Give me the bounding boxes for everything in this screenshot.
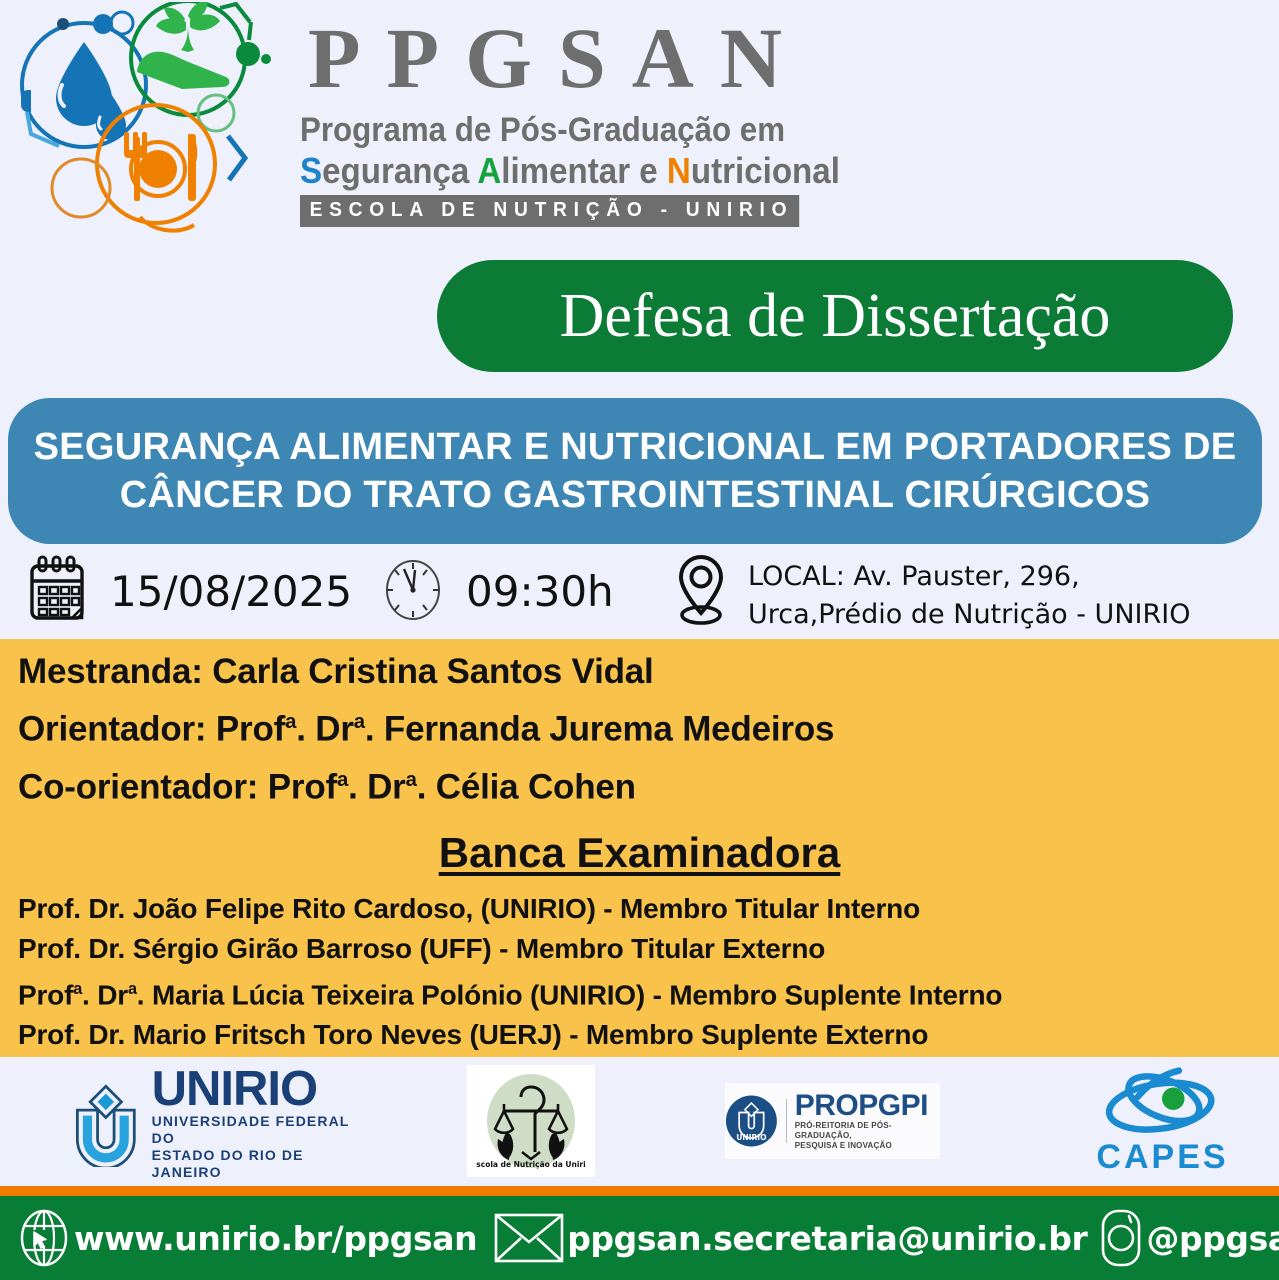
coadvisor-prof-sup: a bbox=[337, 769, 348, 791]
propgpi-badge-icon: UNIRIO bbox=[725, 1093, 778, 1149]
clock-icon bbox=[382, 554, 444, 629]
capes-mark-icon bbox=[1088, 1065, 1238, 1138]
board-member-dr: . Dr bbox=[82, 979, 128, 1010]
board-member-prof: Prof bbox=[18, 979, 73, 1010]
email-text[interactable]: ppgsan.secretaria@unirio.br bbox=[567, 1219, 1087, 1258]
contact-row: www.unirio.br/ppgsan ppgsan.secretaria@u… bbox=[0, 1206, 1279, 1270]
propgpi-sub-line2: PESQUISA E INOVAÇÃO bbox=[795, 1141, 940, 1151]
board-member-row: Prof. Dr. João Felipe Rito Cardoso, (UNI… bbox=[18, 889, 1268, 929]
brand-program-line2: Segurança Alimentar e Nutricional bbox=[300, 150, 815, 192]
poster-root: PPGSAN Programa de Pós-Graduação em Segu… bbox=[0, 0, 1279, 1280]
event-time-item: 09:30h bbox=[382, 554, 614, 629]
propgpi-text: PROPGPI PRÓ-REITORIA DE PÓS-GRADUAÇÃO, P… bbox=[795, 1091, 940, 1151]
event-location-line2: Urca,Prédio de Nutrição - UNIRIO bbox=[748, 596, 1190, 634]
unirio-sub-line1: UNIVERSIDADE FEDERAL DO bbox=[152, 1113, 360, 1147]
email-icon bbox=[491, 1208, 567, 1268]
event-location-item: LOCAL: Av. Pauster, 296, Urca,Prédio de … bbox=[672, 552, 1190, 635]
website-text[interactable]: www.unirio.br/ppgsan bbox=[74, 1219, 477, 1258]
event-date: 15/08/2025 bbox=[110, 567, 352, 616]
student-name: Carla Cristina Santos Vidal bbox=[212, 652, 653, 691]
event-type-label: Defesa de Dissertação bbox=[560, 281, 1111, 352]
brand-alimentar: limentar e bbox=[501, 150, 667, 191]
ppgsan-logo-mark bbox=[8, 2, 300, 242]
event-date-item: 15/08/2025 bbox=[26, 554, 352, 629]
coadvisor-dr: . Dr bbox=[348, 767, 406, 806]
orange-divider-bar bbox=[0, 1186, 1279, 1196]
escola-nutricao-logo: Escola de Nutrição da Unirio bbox=[467, 1065, 595, 1177]
sponsor-logos-row: UNIRIO UNIVERSIDADE FEDERAL DO ESTADO DO… bbox=[0, 1057, 1279, 1186]
capes-logo: CAPES bbox=[1080, 1065, 1245, 1177]
brand-n-initial: N bbox=[667, 150, 691, 191]
brand-a-initial: A bbox=[477, 150, 501, 191]
event-type-banner: Defesa de Dissertação bbox=[437, 260, 1233, 372]
brand-school-band: ESCOLA DE NUTRIÇÃO - UNIRIO bbox=[300, 195, 799, 227]
advisor-prof: Prof bbox=[216, 710, 285, 749]
brand-seguranca: egurança bbox=[322, 150, 477, 191]
advisor-name: Fernanda Jurema Medeiros bbox=[384, 710, 834, 749]
board-member-rest: . Maria Lúcia Teixeira Polónio (UNIRIO) … bbox=[137, 979, 1002, 1010]
brand-text-block: PPGSAN Programa de Pós-Graduação em Segu… bbox=[300, 6, 860, 236]
unirio-logo: UNIRIO UNIVERSIDADE FEDERAL DO ESTADO DO… bbox=[70, 1073, 360, 1173]
coadvisor-dot: . bbox=[417, 767, 436, 806]
brand-nutricional: utricional bbox=[691, 150, 840, 191]
advisor-prof-sup: a bbox=[285, 711, 296, 733]
coadvisor-dr-sup: a bbox=[406, 769, 417, 791]
advisor-dr: . Dr bbox=[296, 710, 354, 749]
brand-s-initial: S bbox=[300, 150, 322, 191]
board-member-row: Prof. Dr. Mario Fritsch Toro Neves (UERJ… bbox=[18, 1015, 1268, 1055]
brand-program-line1: Programa de Pós-Graduação em bbox=[300, 110, 815, 150]
coadvisor-line: Co-orientador: Profa. Dra. Célia Cohen bbox=[18, 755, 1258, 813]
propgpi-badge-label: UNIRIO bbox=[736, 1133, 767, 1142]
advisor-dot: . bbox=[365, 710, 384, 749]
propgpi-logo: UNIRIO PROPGPI PRÓ-REITORIA DE PÓS-GRADU… bbox=[725, 1083, 940, 1159]
event-time: 09:30h bbox=[466, 567, 614, 616]
people-block: Mestranda: Carla Cristina Santos Vidal O… bbox=[18, 647, 1258, 812]
location-pin-icon bbox=[672, 552, 730, 635]
unirio-mark-icon bbox=[70, 1079, 142, 1167]
student-role: Mestranda: bbox=[18, 652, 212, 691]
ppgsan-emblem-icon bbox=[8, 2, 300, 242]
instagram-text[interactable]: @ppgsan.unirio bbox=[1146, 1219, 1279, 1258]
board-member-row: Profa. Dra. Maria Lúcia Teixeira Polónio… bbox=[18, 969, 1268, 1015]
unirio-sub-line2: ESTADO DO RIO DE JANEIRO bbox=[152, 1147, 360, 1181]
participants-section: Mestranda: Carla Cristina Santos Vidal O… bbox=[0, 639, 1279, 1057]
advisor-dr-sup: a bbox=[354, 711, 365, 733]
event-info-row: 15/08/2025 09:30h bbox=[0, 552, 1279, 638]
student-line: Mestranda: Carla Cristina Santos Vidal bbox=[18, 647, 1258, 697]
propgpi-sub-line1: PRÓ-REITORIA DE PÓS-GRADUAÇÃO, bbox=[795, 1121, 940, 1141]
escola-nutricao-seal-icon: Escola de Nutrição da Unirio bbox=[476, 1069, 586, 1173]
brand-acronym: PPGSAN bbox=[300, 6, 860, 110]
board-member-dr-sup: a bbox=[128, 980, 137, 998]
unirio-name: UNIRIO bbox=[152, 1065, 360, 1113]
instagram-icon bbox=[1096, 1206, 1146, 1270]
capes-name: CAPES bbox=[1096, 1138, 1228, 1177]
coadvisor-prof: Prof bbox=[268, 767, 337, 806]
board-heading: Banca Examinadora bbox=[0, 829, 1279, 877]
event-location-text: LOCAL: Av. Pauster, 296, Urca,Prédio de … bbox=[748, 554, 1190, 634]
escola-nutricao-caption: Escola de Nutrição da Unirio bbox=[476, 1160, 586, 1169]
header: PPGSAN Programa de Pós-Graduação em Segu… bbox=[0, 0, 1279, 250]
thesis-title-banner: SEGURANÇA ALIMENTAR E NUTRICIONAL EM POR… bbox=[8, 398, 1262, 544]
board-members-list: Prof. Dr. João Felipe Rito Cardoso, (UNI… bbox=[18, 889, 1268, 1055]
contact-bar: www.unirio.br/ppgsan ppgsan.secretaria@u… bbox=[0, 1196, 1279, 1280]
coadvisor-name: Célia Cohen bbox=[436, 767, 636, 806]
board-member-prof-sup: a bbox=[73, 980, 82, 998]
event-location-line1: LOCAL: Av. Pauster, 296, bbox=[748, 558, 1190, 596]
calendar-icon bbox=[26, 554, 88, 629]
advisor-line: Orientador: Profa. Dra. Fernanda Jurema … bbox=[18, 697, 1258, 755]
globe-icon bbox=[14, 1208, 74, 1268]
propgpi-name: PROPGPI bbox=[795, 1091, 940, 1121]
board-member-row: Prof. Dr. Sérgio Girão Barroso (UFF) - M… bbox=[18, 929, 1268, 969]
coadvisor-role: Co-orientador: bbox=[18, 767, 268, 806]
propgpi-divider bbox=[786, 1099, 787, 1143]
thesis-title: SEGURANÇA ALIMENTAR E NUTRICIONAL EM POR… bbox=[8, 423, 1262, 519]
advisor-role: Orientador: bbox=[18, 710, 216, 749]
unirio-text: UNIRIO UNIVERSIDADE FEDERAL DO ESTADO DO… bbox=[152, 1065, 360, 1181]
